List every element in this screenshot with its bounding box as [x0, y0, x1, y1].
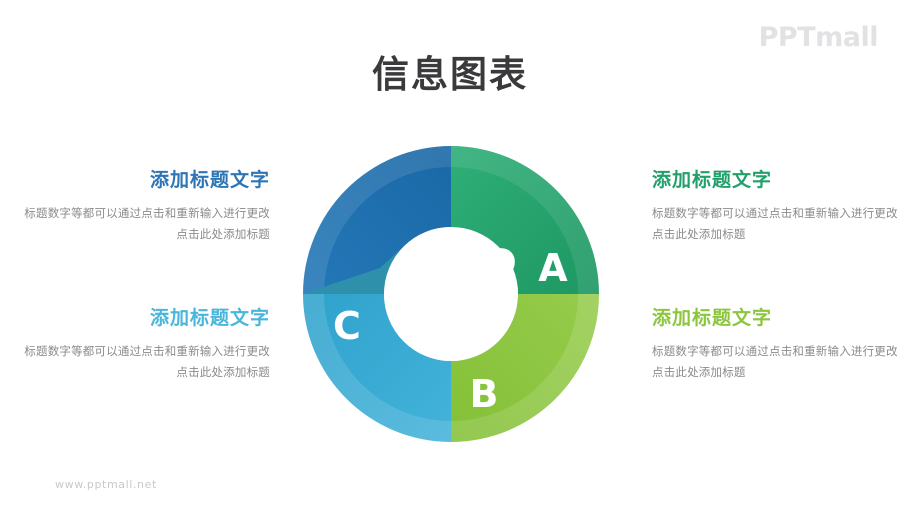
block-body-top-right: 标题数字等都可以通过点击和重新输入进行更改 点击此处添加标题	[652, 203, 900, 246]
block-body-bottom-right: 标题数字等都可以通过点击和重新输入进行更改 点击此处添加标题	[652, 341, 900, 384]
block-title-top-right: 添加标题文字	[652, 168, 900, 193]
block-title-top-left: 添加标题文字	[18, 168, 270, 193]
donut-label-b: B	[470, 372, 499, 416]
page-title: 信息图表	[0, 44, 900, 98]
text-block-bottom-right: 添加标题文字 标题数字等都可以通过点击和重新输入进行更改 点击此处添加标题	[652, 306, 900, 383]
block-body-top-left: 标题数字等都可以通过点击和重新输入进行更改 点击此处添加标题	[18, 203, 270, 246]
donut-label-c: C	[333, 304, 361, 348]
footer-url: www.pptmall.net	[55, 478, 157, 491]
block-body-bottom-left: 标题数字等都可以通过点击和重新输入进行更改 点击此处添加标题	[18, 341, 270, 384]
text-block-top-left: 添加标题文字 标题数字等都可以通过点击和重新输入进行更改 点击此处添加标题	[18, 168, 270, 245]
block-title-bottom-left: 添加标题文字	[18, 306, 270, 331]
text-block-bottom-left: 添加标题文字 标题数字等都可以通过点击和重新输入进行更改 点击此处添加标题	[18, 306, 270, 383]
donut-label-a: A	[538, 246, 568, 290]
donut-label-d: D	[485, 241, 517, 285]
block-title-bottom-right: 添加标题文字	[652, 306, 900, 331]
text-block-top-right: 添加标题文字 标题数字等都可以通过点击和重新输入进行更改 点击此处添加标题	[652, 168, 900, 245]
donut-chart: D A B C	[301, 144, 601, 444]
